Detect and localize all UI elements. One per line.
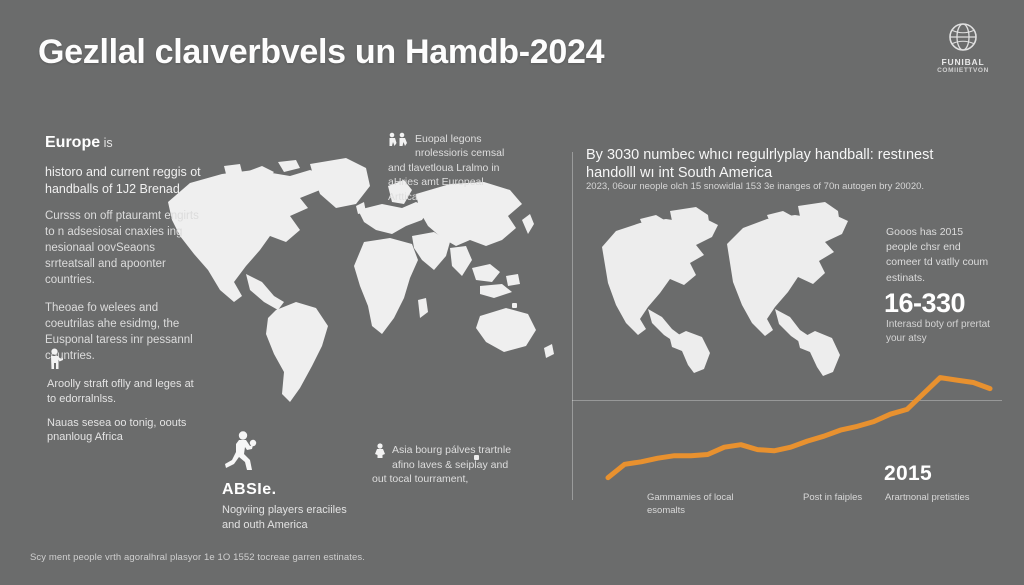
stat-value: 16-330 [884,288,965,319]
person-icon [47,348,197,375]
vertical-divider [572,152,573,500]
intro-text-block: Europe is historo and current reggis ot … [45,128,203,375]
americas-map-left [600,205,740,375]
world-map-graphic [150,150,580,435]
stat-note: Gooos has 2015 people chsr end comeer td… [886,225,996,286]
globe-icon [924,20,1002,54]
mid-right-fact-block: Asia bourg pálves trartnle afino laves &… [372,443,512,487]
player-icon [372,443,388,464]
intro-highlight-suffix: is [104,136,113,150]
chart-caption-1: Gammamies of local esomalts [647,492,747,518]
right-panel-heading: By 3030 numbec whıcı regulrlyplay handba… [586,146,964,182]
handball-players-icon [388,132,410,151]
chart-year-label: 2015 [884,462,932,486]
mid-lower-text: Nogviing players eraciiles and outh Amer… [222,503,367,533]
page-title: Gezllal claıverbvels un Hamdb-2024 [38,33,604,72]
brand-name: FUNIBAL [924,57,1002,67]
mid-top-fact-block: Euopal legons nrolessioris cemsal and tl… [388,132,513,204]
left-lower-paragraph-2: Nauas sesea oo tonig, oouts pnanloug Afr… [47,416,197,446]
running-player-icon [222,430,367,477]
absi-label: ABSIe. [222,479,367,501]
stat-caption: Interasd boty orf prertat your atsy [886,318,994,346]
mid-right-text: Asia bourg pálves trartnle afino laves &… [372,444,511,485]
chart-caption-row: Gammamies of local esomalts Post in faip… [600,492,1000,532]
left-lower-fact-block: Aroolly straft oflly and leges at to edo… [47,348,197,454]
right-panel-subheading: 2023, 06our neople olch 15 snowidlal 153… [586,181,976,193]
trend-line-chart [600,355,1000,495]
intro-paragraph-1: historo and current reggis ot handballs … [45,164,203,197]
intro-lead: Europe is [45,132,203,153]
left-lower-paragraph-1: Aroolly straft oflly and leges at to edo… [47,377,197,407]
intro-paragraph-2: Cursss on off ptauramt engirts to n adse… [45,208,203,288]
brand-logo: FUNIBAL COMIIETTVON [924,20,1002,74]
infographic-canvas: Gezllal claıverbvels un Hamdb-2024 FUNIB… [0,0,1024,585]
mid-lower-fact-block: ABSIe. Nogviing players eraciiles and ou… [222,430,367,533]
footer-note: Scy ment people vrth agoralhral plasyor … [30,552,365,563]
map-marker-dot-right [512,303,517,308]
americas-map-right [725,200,870,378]
intro-highlight: Europe [45,134,100,151]
chart-caption-3: Arartnonal pretisties [885,492,985,505]
brand-tagline: COMIIETTVON [924,67,1002,74]
